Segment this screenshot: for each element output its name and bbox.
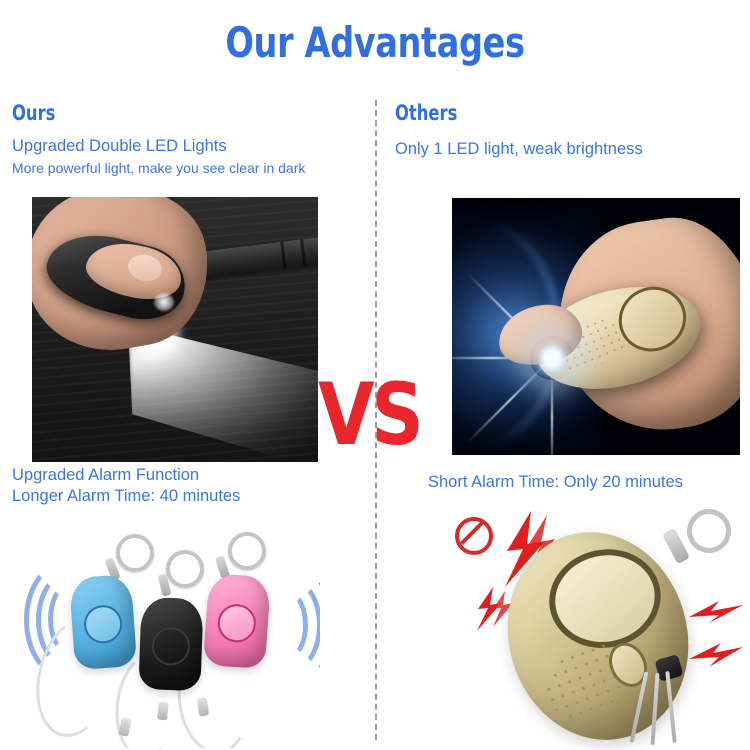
keyring-icon	[681, 505, 736, 559]
others-led-headline: Only 1 LED light, weak brightness	[395, 140, 643, 159]
led-light-icon	[154, 293, 174, 311]
ours-led-photo	[32, 197, 318, 462]
ours-alarm-subline: Longer Alarm Time: 40 minutes	[12, 487, 240, 506]
alarm-button	[217, 603, 258, 644]
column-heading-ours: Ours	[12, 103, 55, 124]
keyring-icon	[228, 532, 266, 570]
alarm-button	[83, 604, 124, 645]
column-heading-others: Others	[395, 103, 457, 124]
advantages-comparison-graphic: Our Advantages Ours Upgraded Double LED …	[0, 0, 750, 750]
alarm-button	[540, 539, 670, 658]
lightning-bolt-icon	[689, 601, 743, 643]
vs-badge: VS	[318, 372, 420, 458]
ours-led-headline: Upgraded Double LED Lights	[12, 137, 227, 156]
wrist-cord	[629, 671, 703, 749]
alarm-unit-pink	[203, 573, 271, 669]
alarm-button	[151, 627, 190, 666]
others-led-photo	[452, 198, 740, 455]
ours-alarm-photo	[20, 512, 320, 748]
ours-alarm-headline: Upgraded Alarm Function	[12, 466, 199, 485]
keyring-icon	[166, 550, 204, 588]
others-alarm-headline: Short Alarm Time: Only 20 minutes	[428, 473, 683, 492]
others-alarm-photo	[443, 505, 743, 750]
alarm-unit-black	[138, 597, 203, 691]
ours-led-subline: More powerful light, make you see clear …	[12, 160, 305, 177]
weak-led-point-light	[530, 336, 574, 380]
prohibition-icon	[455, 517, 493, 555]
alarm-unit-blue	[69, 574, 137, 670]
cord-tip	[157, 702, 169, 721]
page-title: Our Advantages	[75, 22, 675, 64]
keyring-icon	[116, 534, 154, 572]
